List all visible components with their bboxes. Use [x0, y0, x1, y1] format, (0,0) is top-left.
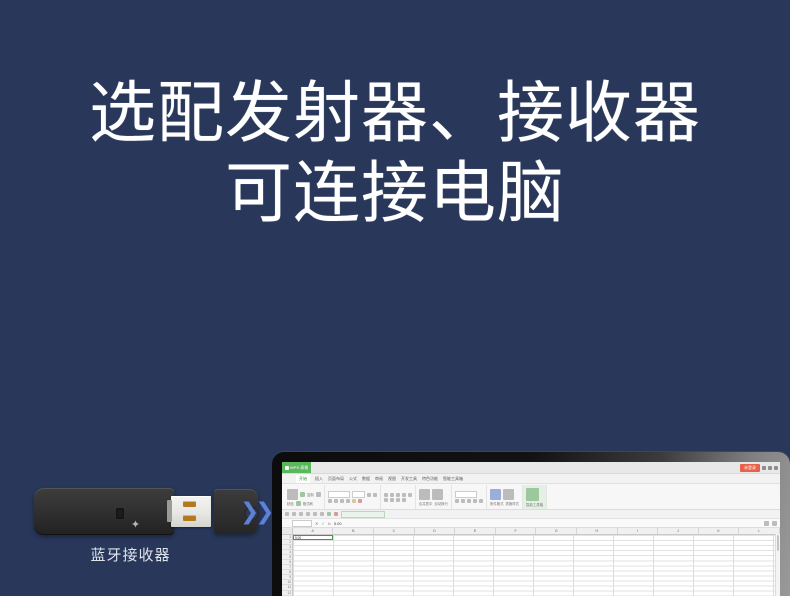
column-header-row[interactable]: A B C D E F G H I J K L — [282, 528, 780, 535]
column-header-c[interactable]: C — [374, 528, 415, 534]
promo-banner: 选配发射器、接收器 可连接电脑 ✦ 蓝牙接收器 ❯❯❯ WPS 表格 — [0, 0, 790, 596]
tab-developer[interactable]: 开发工具 — [401, 476, 417, 482]
tab-formula[interactable]: 公式 — [349, 476, 357, 482]
selected-cell[interactable]: 5.00 — [293, 535, 333, 540]
clipboard-label-0: 粘贴 — [287, 501, 294, 506]
formula-bar[interactable]: ✕ ✓ fx 5.00 — [282, 519, 780, 528]
column-header-i[interactable]: I — [618, 528, 659, 534]
tab-start[interactable]: 开始 — [296, 475, 310, 483]
page-title: 选配发射器、接收器 可连接电脑 — [0, 74, 790, 234]
decrease-decimal-icon[interactable] — [479, 499, 483, 503]
increase-font-icon[interactable] — [367, 493, 371, 497]
italic-icon[interactable] — [334, 499, 338, 503]
vertical-scrollbar[interactable] — [775, 534, 780, 596]
close-icon[interactable] — [774, 466, 778, 470]
clipboard-label-1: 复制 — [307, 492, 314, 497]
window-controls[interactable] — [762, 466, 778, 470]
print-preview-icon[interactable] — [306, 512, 310, 516]
help-icon[interactable] — [772, 521, 777, 526]
increase-decimal-icon[interactable] — [473, 499, 477, 503]
tab-data[interactable]: 数据 — [362, 476, 370, 482]
column-header-h[interactable]: H — [577, 528, 618, 534]
usb-contact-bottom — [183, 515, 196, 521]
document-tab-label: WPS 表格 — [290, 465, 308, 471]
column-header-d[interactable]: D — [415, 528, 456, 534]
scrollbar-thumb[interactable] — [777, 535, 779, 551]
tab-insert[interactable]: 插入 — [315, 476, 323, 482]
toolbox-label: 智能工具箱 — [526, 502, 543, 507]
cell-area[interactable]: 5.00 — [293, 535, 780, 596]
dongle-body: ✦ — [34, 488, 174, 535]
search-icon[interactable] — [764, 521, 769, 526]
maximize-icon[interactable] — [768, 466, 772, 470]
align-bottom-icon[interactable] — [396, 493, 400, 497]
tab-page-layout[interactable]: 页面布局 — [328, 476, 344, 482]
table-style-label: 表格样式 — [505, 501, 519, 506]
wrap-text-icon[interactable] — [402, 498, 406, 502]
laptop-screen: WPS 表格 未登录 开始 插入 页面布局 公式 数据 审阅 — [282, 462, 780, 596]
tab-features[interactable]: 特色功能 — [422, 476, 438, 482]
headline-line-2: 可连接电脑 — [0, 154, 790, 234]
account-button[interactable]: 未登录 — [740, 464, 760, 472]
document-tab[interactable]: WPS 表格 — [282, 462, 311, 473]
column-header-f[interactable]: F — [496, 528, 537, 534]
undo-icon[interactable] — [313, 512, 317, 516]
align-middle-icon[interactable] — [390, 493, 394, 497]
paste-icon[interactable] — [287, 489, 298, 500]
font-size-select[interactable] — [352, 491, 365, 498]
row-header-column[interactable]: 1 2 3 4 5 6 7 8 9 10 11 12 13 14 — [282, 535, 293, 596]
name-box[interactable] — [292, 520, 312, 527]
confirm-formula-icon[interactable]: ✓ — [321, 521, 324, 526]
border-icon[interactable] — [346, 499, 350, 503]
ribbon-group-number[interactable] — [452, 485, 487, 509]
dongle-logo-icon: ✦ — [130, 520, 141, 531]
cut-icon[interactable] — [300, 492, 305, 497]
fill-color-icon[interactable] — [352, 499, 356, 503]
ribbon-group-font[interactable] — [325, 485, 381, 509]
quick-access-toolbar[interactable] — [282, 510, 780, 519]
bold-icon[interactable] — [328, 499, 332, 503]
select-all-corner[interactable] — [282, 528, 293, 534]
cloud-icon[interactable] — [327, 512, 331, 516]
spreadsheet-grid[interactable]: A B C D E F G H I J K L 1 2 — [282, 528, 780, 596]
conditional-format-icon[interactable] — [490, 489, 501, 500]
column-header-j[interactable]: J — [658, 528, 699, 534]
column-header-a[interactable]: A — [293, 528, 334, 534]
number-format-select[interactable] — [455, 491, 477, 498]
align-center-icon[interactable] — [390, 498, 394, 502]
table-style-icon[interactable] — [503, 489, 514, 500]
indent-increase-icon[interactable] — [408, 493, 412, 497]
print-icon[interactable] — [299, 512, 303, 516]
redo-icon[interactable] — [320, 512, 324, 516]
ribbon-group-merge[interactable]: 合并居中 自动换行 — [416, 485, 452, 509]
toolbox-icon[interactable] — [526, 488, 539, 501]
font-color-icon[interactable] — [358, 499, 362, 503]
ribbon-tab-bar[interactable]: 开始 插入 页面布局 公式 数据 审阅 视图 开发工具 特色功能 智能工具箱 — [282, 474, 780, 484]
percent-icon[interactable] — [461, 499, 465, 503]
bluetooth-receiver-illustration: ✦ 蓝牙接收器 — [28, 484, 268, 574]
underline-icon[interactable] — [340, 499, 344, 503]
ribbon-group-clipboard[interactable]: 复制 粘贴 格式刷 — [284, 485, 325, 509]
share-icon[interactable] — [334, 512, 338, 516]
align-top-icon[interactable] — [384, 493, 388, 497]
column-header-e[interactable]: E — [455, 528, 496, 534]
laptop-illustration: WPS 表格 未登录 开始 插入 页面布局 公式 数据 审阅 — [272, 452, 790, 596]
column-header-b[interactable]: B — [333, 528, 374, 534]
align-left-icon[interactable] — [384, 498, 388, 502]
column-header-g[interactable]: G — [536, 528, 577, 534]
copy-icon[interactable] — [296, 501, 301, 506]
cancel-formula-icon[interactable]: ✕ — [315, 521, 318, 526]
clipboard-label-2: 格式刷 — [303, 501, 313, 506]
tab-toolbox[interactable]: 智能工具箱 — [443, 476, 463, 482]
tab-view[interactable]: 视图 — [388, 476, 396, 482]
save-icon[interactable] — [292, 512, 296, 516]
dongle-indicator-icon — [116, 508, 124, 519]
comma-icon[interactable] — [467, 499, 471, 503]
quick-path-box[interactable] — [341, 511, 385, 518]
ribbon-group-toolbox[interactable]: 智能工具箱 — [523, 485, 547, 509]
font-family-select[interactable] — [328, 491, 350, 498]
indent-decrease-icon[interactable] — [402, 493, 406, 497]
wps-logo-icon — [285, 466, 289, 470]
conditional-format-label: 条件格式 — [490, 501, 504, 506]
wps-title-bar: WPS 表格 未登录 — [282, 462, 780, 474]
new-file-icon[interactable] — [285, 512, 289, 516]
device-label: 蓝牙接收器 — [28, 544, 233, 565]
usb-contact-top — [183, 501, 196, 507]
column-header-k[interactable]: K — [699, 528, 740, 534]
formula-value: 5.00 — [334, 521, 342, 526]
wrap-cells-icon[interactable] — [432, 489, 443, 500]
ribbon-group-alignment[interactable] — [381, 485, 416, 509]
formula-bar-right — [764, 521, 780, 526]
selected-cell-value: 5.00 — [294, 536, 332, 541]
ribbon-toolbar[interactable]: 复制 粘贴 格式刷 — [282, 484, 780, 510]
title-bar-right: 未登录 — [740, 464, 780, 472]
tab-review[interactable]: 审阅 — [375, 476, 383, 482]
chevron-right-icon: ❯❯❯ — [240, 498, 274, 524]
align-right-icon[interactable] — [396, 498, 400, 502]
usb-connector-icon — [171, 496, 211, 527]
column-header-l[interactable]: L — [739, 528, 780, 534]
insert-function-icon[interactable]: fx — [328, 521, 331, 526]
wrap-label: 自动换行 — [434, 501, 448, 506]
decrease-font-icon[interactable] — [373, 493, 377, 497]
headline-line-1: 选配发射器、接收器 — [89, 76, 701, 151]
minimize-icon[interactable] — [762, 466, 766, 470]
ribbon-group-styles[interactable]: 条件格式 表格样式 — [487, 485, 523, 509]
currency-icon[interactable] — [455, 499, 459, 503]
grid-body[interactable]: 1 2 3 4 5 6 7 8 9 10 11 12 13 14 — [282, 535, 780, 596]
merge-cells-icon[interactable] — [419, 489, 430, 500]
merge-label: 合并居中 — [419, 501, 433, 506]
format-painter-icon[interactable] — [316, 492, 321, 497]
